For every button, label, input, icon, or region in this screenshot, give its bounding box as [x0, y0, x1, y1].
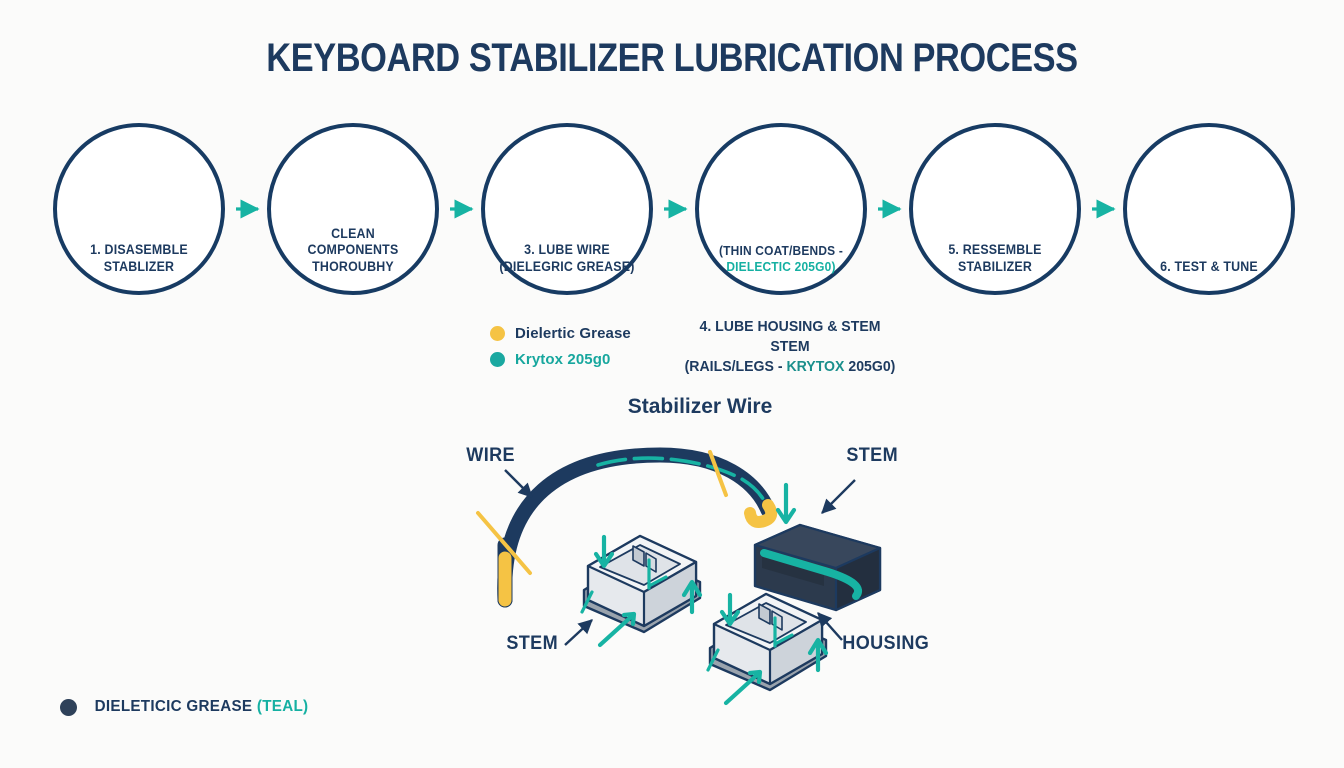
- process-step-1-label: 1. DISASEMBLE STABLIZER: [65, 242, 212, 275]
- process-step-3[interactable]: 3. LUBE WIRE (DIELEGRIC GREASE): [481, 123, 653, 295]
- diagram-title: Stabilizer Wire: [570, 395, 830, 419]
- diagram-label-housing: HOUSING: [842, 633, 929, 655]
- legend-label-dielectric: Dielertic Grease: [515, 325, 631, 342]
- process-step-3-label: 3. LUBE WIRE (DIELEGRIC GREASE): [493, 242, 640, 275]
- process-step-6-label: 6. TEST & TUNE: [1135, 259, 1282, 275]
- legend-dot-yellow: [490, 326, 505, 341]
- step4-caption-line2: STEM: [649, 337, 931, 357]
- process-step-5[interactable]: 5. RESSEMBLE STABILIZER: [909, 123, 1081, 295]
- diagram-label-stem-bottom: STEM: [506, 633, 558, 655]
- legend-item-dielectric: Dielertic Grease: [490, 325, 631, 342]
- step4-caption-line3: (RAILS/LEGS - KRYTOX 205G0): [649, 357, 931, 377]
- process-step-1[interactable]: 1. DISASEMBLE STABLIZER: [53, 123, 225, 295]
- step4-caption: 4. LUBE HOUSING & STEM STEM (RAILS/LEGS …: [649, 317, 931, 377]
- process-step-2[interactable]: CLEAN COMPONENTS THOROUBHY: [267, 123, 439, 295]
- process-step-4[interactable]: (THIN COAT/BENDS - DIELECTIC 205G0): [695, 123, 867, 295]
- diagram-label-stem-top: STEM: [846, 445, 898, 467]
- bottom-legend-label: DIELETICIC GREASE (TEAL): [95, 698, 309, 716]
- process-step-4-label: (THIN COAT/BENDS - DIELECTIC 205G0): [707, 243, 854, 275]
- bottom-legend: DIELETICIC GREASE (TEAL): [60, 698, 314, 716]
- process-step-2-label: CLEAN COMPONENTS THOROUBHY: [279, 226, 426, 275]
- legend-dot-teal: [490, 352, 505, 367]
- bottom-legend-dot: [60, 699, 77, 716]
- legend-item-krytox: Krytox 205g0: [490, 351, 631, 368]
- step4-caption-line1: 4. LUBE HOUSING & STEM: [649, 317, 931, 337]
- diagram-labels-layer: Stabilizer Wire WIRE STEM STEM HOUSING: [400, 395, 1000, 735]
- page-title: KEYBOARD STABILIZER LUBRICATION PROCESS: [94, 36, 1250, 81]
- diagram-label-wire: WIRE: [466, 445, 515, 467]
- legend-label-krytox: Krytox 205g0: [515, 351, 610, 368]
- infographic-canvas: KEYBOARD STABILIZER LUBRICATION PROCESS: [0, 0, 1344, 768]
- process-step-6[interactable]: 6. TEST & TUNE: [1123, 123, 1295, 295]
- process-step-5-label: 5. RESSEMBLE STABILIZER: [921, 242, 1068, 275]
- grease-legend: Dielertic Grease Krytox 205g0: [490, 325, 631, 377]
